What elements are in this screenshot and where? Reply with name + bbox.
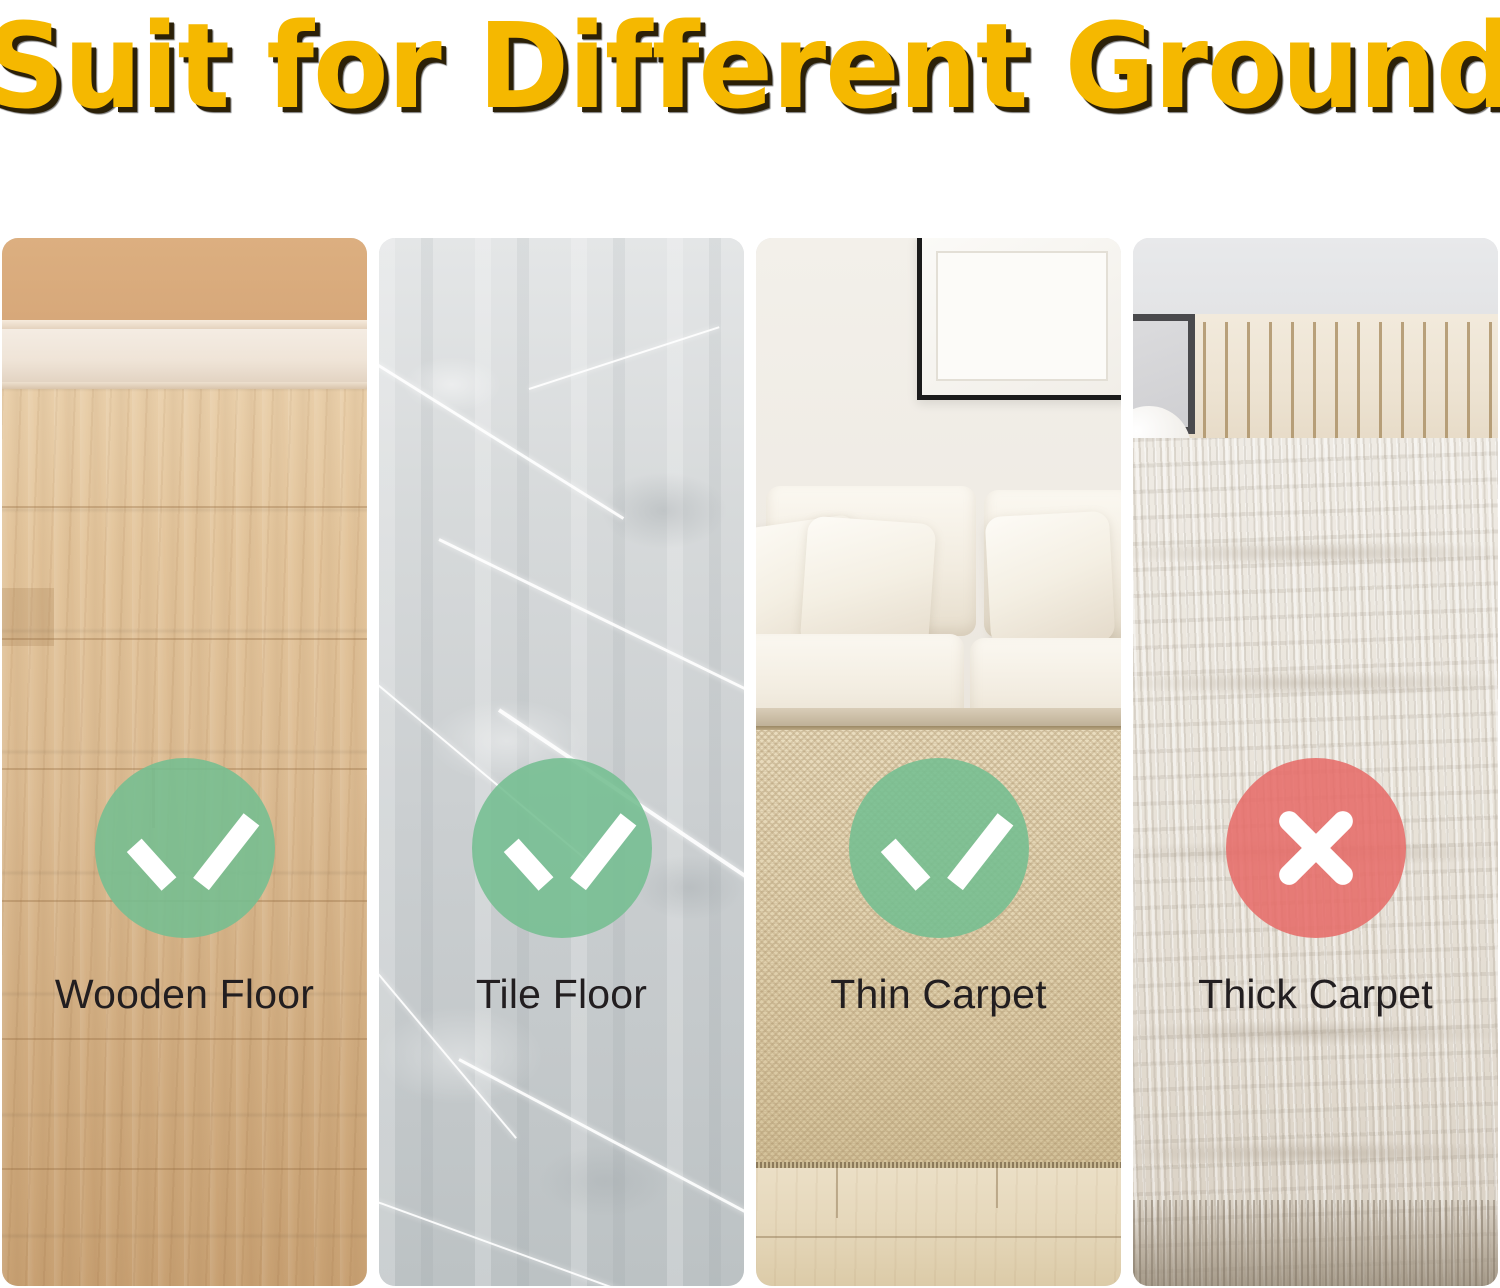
carpet-shadow-wave — [1133, 1138, 1498, 1168]
surface-label-wooden-floor: Wooden Floor — [2, 971, 367, 1018]
page-title: Suit for Different Ground — [0, 0, 1500, 128]
sofa-base — [756, 708, 1121, 726]
surface-label-thick-carpet: Thick Carpet — [1133, 971, 1498, 1018]
wooden-slat-screen — [1203, 322, 1498, 452]
surface-label-thin-carpet: Thin Carpet — [756, 971, 1121, 1018]
plank-butt-joint — [996, 1168, 998, 1208]
plank-seam — [756, 1236, 1121, 1238]
plank-butt-joint — [836, 1168, 838, 1218]
wood-floor-under-rug — [756, 1168, 1121, 1286]
wall-art-mat — [936, 251, 1108, 381]
plank-seam — [2, 506, 367, 508]
surface-panel-thin-carpet: Thin Carpet — [756, 238, 1121, 1286]
status-badge-approved — [849, 758, 1029, 938]
page-header: Suit for Different Ground — [0, 0, 1500, 150]
sofa — [756, 486, 1121, 732]
carpet-shadow-wave — [1133, 1018, 1498, 1048]
sofa-pillow — [985, 511, 1116, 647]
baseboard-top-trim — [2, 320, 367, 329]
check-icon — [137, 800, 233, 896]
wall-art-frame — [917, 238, 1121, 400]
check-icon — [514, 800, 610, 896]
wall-upper — [2, 238, 367, 320]
status-badge-approved — [472, 758, 652, 938]
status-badge-approved — [95, 758, 275, 938]
baseboard — [2, 329, 367, 382]
surface-panel-tile-floor: Tile Floor — [379, 238, 744, 1286]
surface-label-tile-floor: Tile Floor — [379, 971, 744, 1018]
upper-grey-band — [1133, 238, 1498, 314]
surface-comparison-row: Wooden Floor Tile Floor — [0, 238, 1500, 1286]
surface-panel-thick-carpet: Thick Carpet — [1133, 238, 1498, 1286]
carpet-fringe — [1133, 1200, 1498, 1286]
surface-panel-wooden-floor: Wooden Floor — [2, 238, 367, 1286]
plank-seam — [2, 1038, 367, 1040]
carpet-shadow-wave — [1133, 538, 1498, 568]
check-icon — [891, 800, 987, 896]
cross-icon — [1268, 800, 1364, 896]
carpet-shadow-wave — [1133, 668, 1498, 698]
plank-butt-joint — [2, 588, 54, 646]
plank-seam — [2, 1168, 367, 1170]
baseboard-bottom-trim — [2, 382, 367, 389]
status-badge-rejected — [1226, 758, 1406, 938]
plank-seam — [2, 638, 367, 640]
